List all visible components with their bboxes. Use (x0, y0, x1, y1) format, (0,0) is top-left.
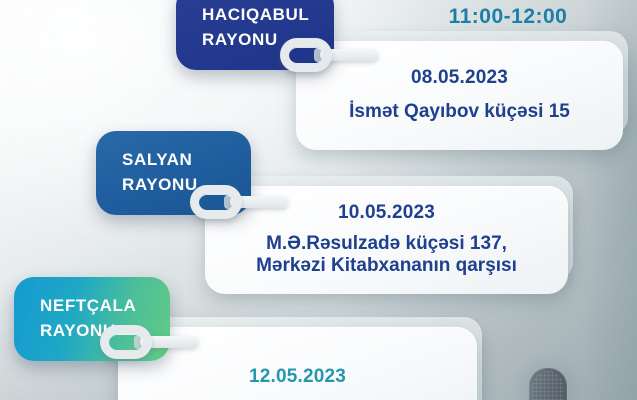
event-time-range: 11:00-12:00 (423, 5, 593, 29)
event-address-2-line1: M.Ə.Rəsulzadə küçəsi 137, (266, 233, 507, 255)
event-address-1: İsmət Qayıbov küçəsi 15 (349, 101, 570, 123)
chain-link-icon-2 (190, 185, 286, 219)
chain-link-ring-3 (100, 325, 152, 359)
microphone-head (529, 368, 567, 400)
poster-canvas: 11:00-12:00 08.05.2023 İsmət Qayıbov küç… (0, 0, 637, 400)
chain-link-ring-1 (280, 38, 332, 72)
region-badge-salyan-line1: SALYAN (122, 148, 251, 173)
event-address-2-line2: Mərkəzi Kitabxananın qarşısı (256, 255, 517, 277)
chain-link-icon-3 (100, 325, 196, 359)
event-date-2: 10.05.2023 (338, 203, 435, 222)
region-badge-haciqabul-line1: HACIQABUL (202, 3, 334, 28)
microphone-grill (532, 371, 564, 400)
region-badge-neftcala-line1: NEFTÇALA (40, 294, 170, 319)
event-date-3: 12.05.2023 (249, 367, 346, 386)
chain-link-ring-2 (190, 185, 242, 219)
microphone-icon (529, 368, 567, 400)
event-date-1: 08.05.2023 (411, 68, 508, 87)
chain-link-icon-1 (280, 38, 376, 72)
